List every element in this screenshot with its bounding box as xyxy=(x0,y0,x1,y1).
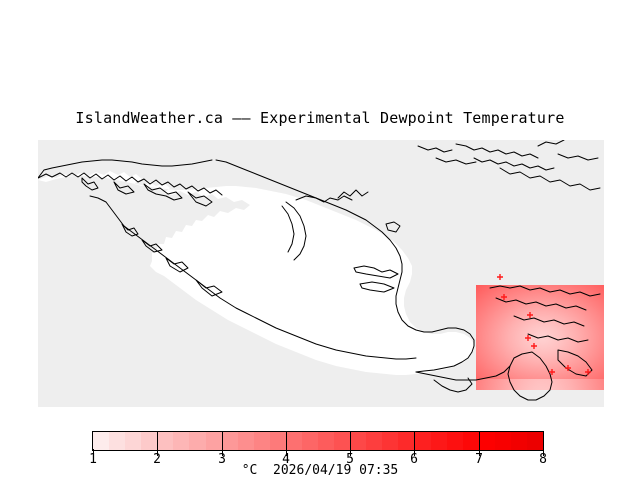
weather-map-page: IslandWeather.ca —— Experimental Dewpoin… xyxy=(0,0,640,480)
colorbar-swatch-10 xyxy=(254,432,270,450)
colorbar-swatch-26 xyxy=(511,432,527,450)
colorbar xyxy=(92,431,544,451)
colorbar-swatch-6 xyxy=(189,432,205,450)
colorbar-swatch-25 xyxy=(495,432,511,450)
colorbar-swatch-18 xyxy=(382,432,398,450)
colorbar-swatch-22 xyxy=(447,432,463,450)
colorbar-swatch-12 xyxy=(286,432,302,450)
colorbar-swatch-14 xyxy=(318,432,334,450)
colorbar-swatch-11 xyxy=(270,432,286,450)
colorbar-swatch-8 xyxy=(222,432,238,450)
dewpoint-render xyxy=(476,285,604,379)
colorbar-swatches xyxy=(92,431,544,451)
colorbar-swatch-1 xyxy=(109,432,125,450)
map-canvas[interactable] xyxy=(38,140,604,407)
colorbar-swatch-20 xyxy=(415,432,431,450)
colorbar-swatch-15 xyxy=(334,432,350,450)
colorbar-swatch-23 xyxy=(463,432,479,450)
colorbar-swatch-27 xyxy=(527,432,543,450)
colorbar-swatch-5 xyxy=(173,432,189,450)
colorbar-swatch-4 xyxy=(157,432,173,450)
colorbar-swatch-7 xyxy=(206,432,222,450)
colorbar-swatch-0 xyxy=(93,432,109,450)
colorbar-swatch-13 xyxy=(302,432,318,450)
vancouver-island-land xyxy=(38,171,474,375)
colorbar-swatch-16 xyxy=(350,432,366,450)
colorbar-swatch-9 xyxy=(238,432,254,450)
colorbar-swatch-3 xyxy=(141,432,157,450)
colorbar-caption: °C 2026/04/19 07:35 xyxy=(0,463,640,478)
colorbar-swatch-17 xyxy=(366,432,382,450)
colorbar-swatch-19 xyxy=(398,432,414,450)
colorbar-swatch-21 xyxy=(431,432,447,450)
colorbar-swatch-24 xyxy=(479,432,495,450)
map-panel[interactable] xyxy=(38,140,604,407)
dewpoint-interior-fill xyxy=(476,285,604,379)
page-title: IslandWeather.ca —— Experimental Dewpoin… xyxy=(0,109,640,127)
landmass-layer xyxy=(38,171,474,375)
colorbar-swatch-2 xyxy=(125,432,141,450)
station-marker[interactable] xyxy=(497,274,503,280)
